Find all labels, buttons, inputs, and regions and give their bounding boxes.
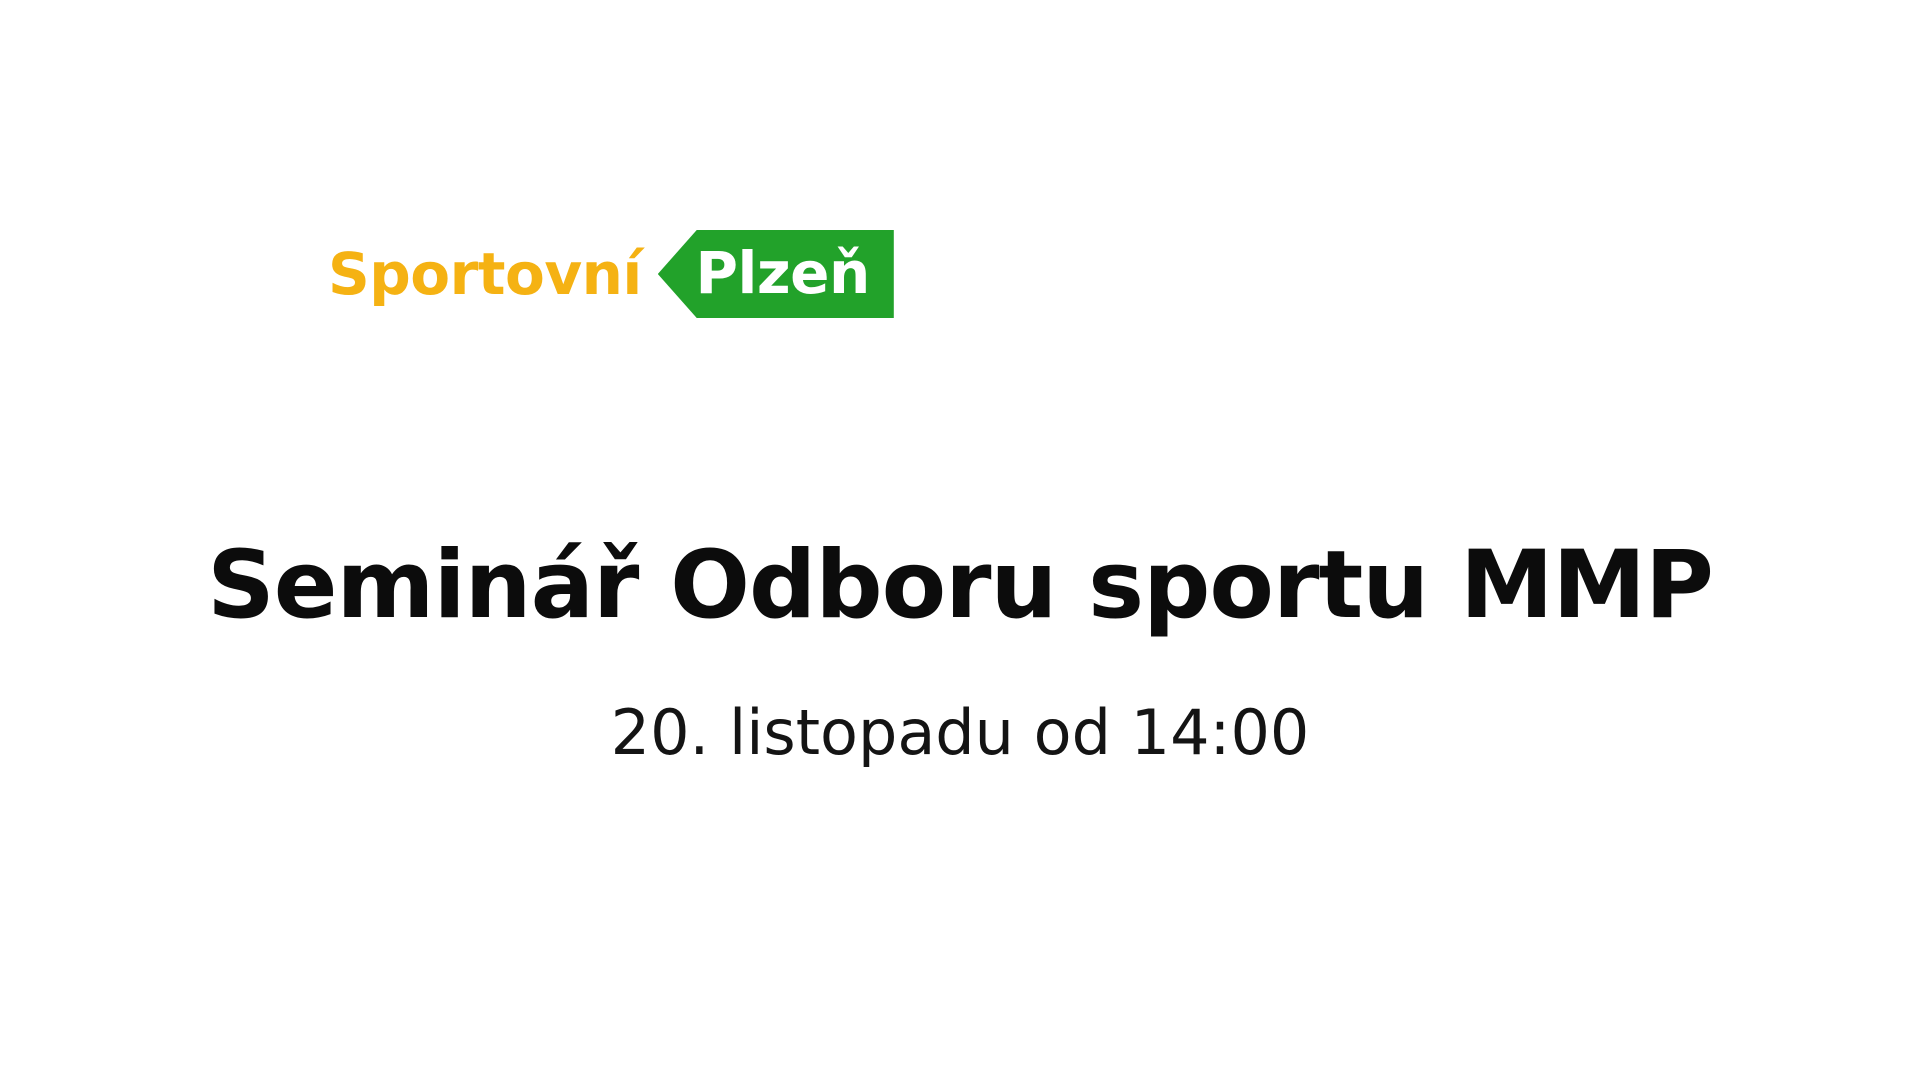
logo-badge-label: Plzeň [696,244,894,304]
logo-badge-plzen: Plzeň [658,230,894,318]
logo-wordmark-sportovni: Sportovní [328,245,658,303]
sportovni-plzen-logo: Sportovní Plzeň [328,228,894,320]
page-title: Seminář Odboru sportu MMP [0,535,1920,637]
event-datetime: 20. listopadu od 14:00 [0,697,1920,768]
slide-canvas: Sportovní Plzeň Seminář Odboru sportu MM… [0,0,1920,1080]
